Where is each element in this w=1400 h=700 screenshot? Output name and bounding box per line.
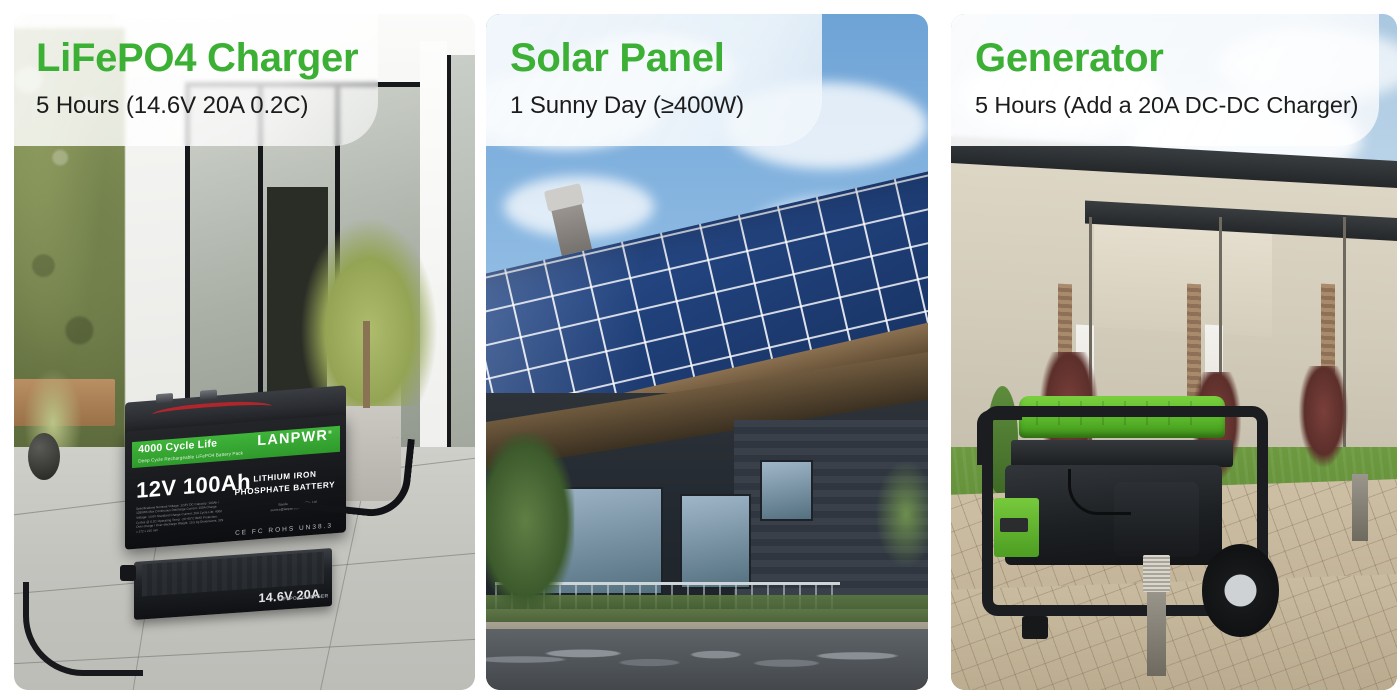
building-gable <box>1094 219 1272 337</box>
generator-wheel <box>1202 544 1279 636</box>
battery-terminal-negative <box>156 393 173 403</box>
stone-wall <box>486 629 928 690</box>
red-leaf-shrub <box>1299 366 1348 467</box>
panel-1-text-overlay: LiFePO4 Charger 5 Hours (14.6V 20A 0.2C) <box>14 14 378 146</box>
panel-lifepo4-charger: 4000 Cycle Life Deep Cycle Rechargeable … <box>14 14 475 690</box>
battery-cable-black <box>287 427 415 520</box>
garden-bush <box>486 433 574 609</box>
panel-2-subtitle: 1 Sunny Day (≥400W) <box>510 94 744 118</box>
panel-solar-panel: Solar Panel 1 Sunny Day (≥400W) <box>486 14 928 690</box>
panel-1-title: LiFePO4 Charger <box>36 38 358 78</box>
battery-model-text: 12V 100Ah <box>136 469 251 504</box>
generator-foot <box>1022 616 1048 639</box>
palm-plant <box>300 217 438 406</box>
garden-tree <box>875 460 928 568</box>
charging-methods-board: 4000 Cycle Life Deep Cycle Rechargeable … <box>0 0 1400 700</box>
panel-1-subtitle: 5 Hours (14.6V 20A 0.2C) <box>36 94 308 118</box>
charger-plug <box>120 565 136 581</box>
panel-generator: Generator 5 Hours (Add a 20A DC-DC Charg… <box>951 14 1397 690</box>
house-window <box>760 460 813 521</box>
battery-terminal-positive <box>200 389 217 399</box>
panel-2-title: Solar Panel <box>510 38 725 78</box>
garden-light-far <box>1352 474 1367 542</box>
panel-3-text-overlay: Generator 5 Hours (Add a 20A DC-DC Charg… <box>951 14 1379 146</box>
battery-certification-marks: CE FC ROHS UN38.3 <box>235 522 333 537</box>
panel-3-title: Generator <box>975 38 1163 78</box>
small-plant <box>23 366 83 447</box>
panel-2-text-overlay: Solar Panel 1 Sunny Day (≥400W) <box>486 14 822 146</box>
garden-light-near <box>1147 589 1166 677</box>
portable-generator <box>982 406 1267 616</box>
generator-handle <box>977 410 1023 464</box>
panel-3-subtitle: 5 Hours (Add a 20A DC-DC Charger) <box>975 94 1358 118</box>
house-window <box>680 494 751 589</box>
battery-spec-block: Specifications Nominal Voltage: 12.8V DC… <box>136 500 225 535</box>
